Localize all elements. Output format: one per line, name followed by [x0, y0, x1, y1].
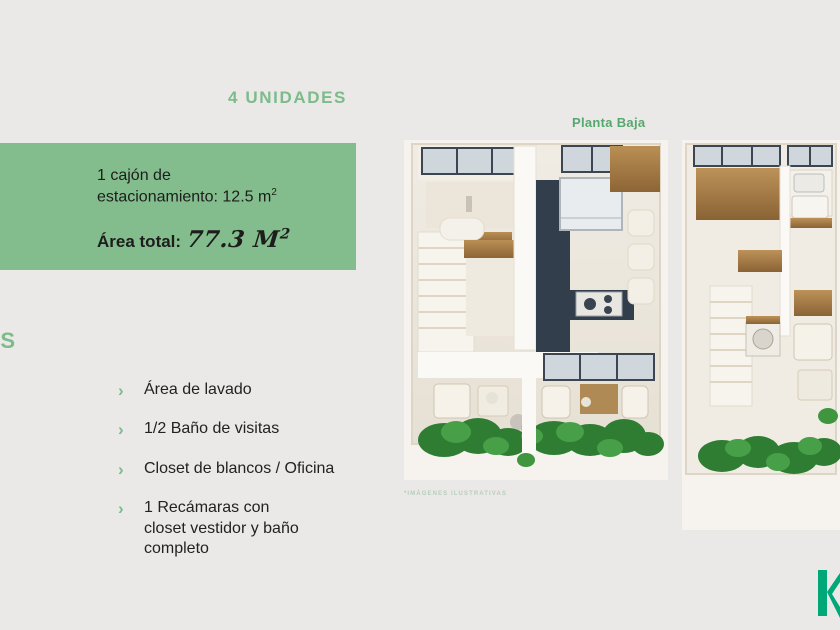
brand-logo [818, 570, 840, 630]
list-item: › 1 Recámaras con closet vestidor y baño… [118, 498, 408, 560]
floorplan-upper-svg [682, 140, 840, 530]
area-stat-line: m2 [0, 225, 24, 247]
list-item: echado [0, 486, 72, 507]
floorplan-ground-svg [404, 140, 668, 480]
feature-label: 1/2 Baño de visitas [144, 419, 279, 440]
illustrative-images-footnote: *IMÁGENES ILUSTRATIVAS [404, 491, 507, 497]
feature-label: Área de lavado [144, 380, 252, 401]
parking-label: 1 cajón de [97, 167, 171, 184]
list-item: ador [0, 419, 72, 440]
chevron-right-icon: › [118, 419, 128, 440]
floorplan-upper-image [682, 140, 840, 530]
characteristics-heading: RÍSTICAS [0, 328, 16, 354]
chevron-right-icon: › [118, 459, 128, 480]
area-stat-line: 3 m2 [0, 165, 24, 187]
total-area-value: 77.3 M2 [186, 226, 292, 253]
total-unit-sup: 2 [279, 226, 291, 242]
slide-root: 4 UNIDADES 3 m2 m2 1 cajón de estacionam… [0, 0, 840, 630]
features-right-column: › Área de lavado › 1/2 Baño de visitas ›… [118, 380, 408, 578]
feature-label: 1 Recámaras con closet vestidor y baño c… [144, 498, 304, 560]
floorplan-label: Planta Baja [572, 115, 645, 130]
page-title: 4 UNIDADES [228, 88, 347, 108]
floorplan-ground-image [404, 140, 668, 480]
total-area-label: Área total: [97, 232, 181, 252]
parking-area-stat: 1 cajón de estacionamiento: 12.5 m2 [97, 165, 347, 208]
area-stats-left-column: 3 m2 m2 [0, 165, 24, 284]
chevron-right-icon: › [118, 498, 128, 519]
list-item: › 1/2 Baño de visitas [118, 419, 408, 440]
features-left-column: r ador echado [0, 380, 72, 524]
chevron-right-icon: › [118, 380, 128, 401]
feature-label: Closet de blancos / Oficina [144, 459, 334, 480]
area-stats-banner: 3 m2 m2 1 cajón de estacionamiento: 12.5… [0, 143, 356, 270]
list-item: › Closet de blancos / Oficina [118, 459, 408, 480]
parking-value: estacionamiento: 12.5 m [97, 188, 271, 205]
brand-logo-icon [818, 570, 840, 630]
list-item: r [0, 380, 72, 401]
total-area-stat: Área total: 77.3 M2 [97, 226, 347, 253]
parking-unit-sup: 2 [271, 187, 277, 198]
list-item: › Área de lavado [118, 380, 408, 401]
area-stats-right-column: 1 cajón de estacionamiento: 12.5 m2 Área… [97, 165, 347, 253]
